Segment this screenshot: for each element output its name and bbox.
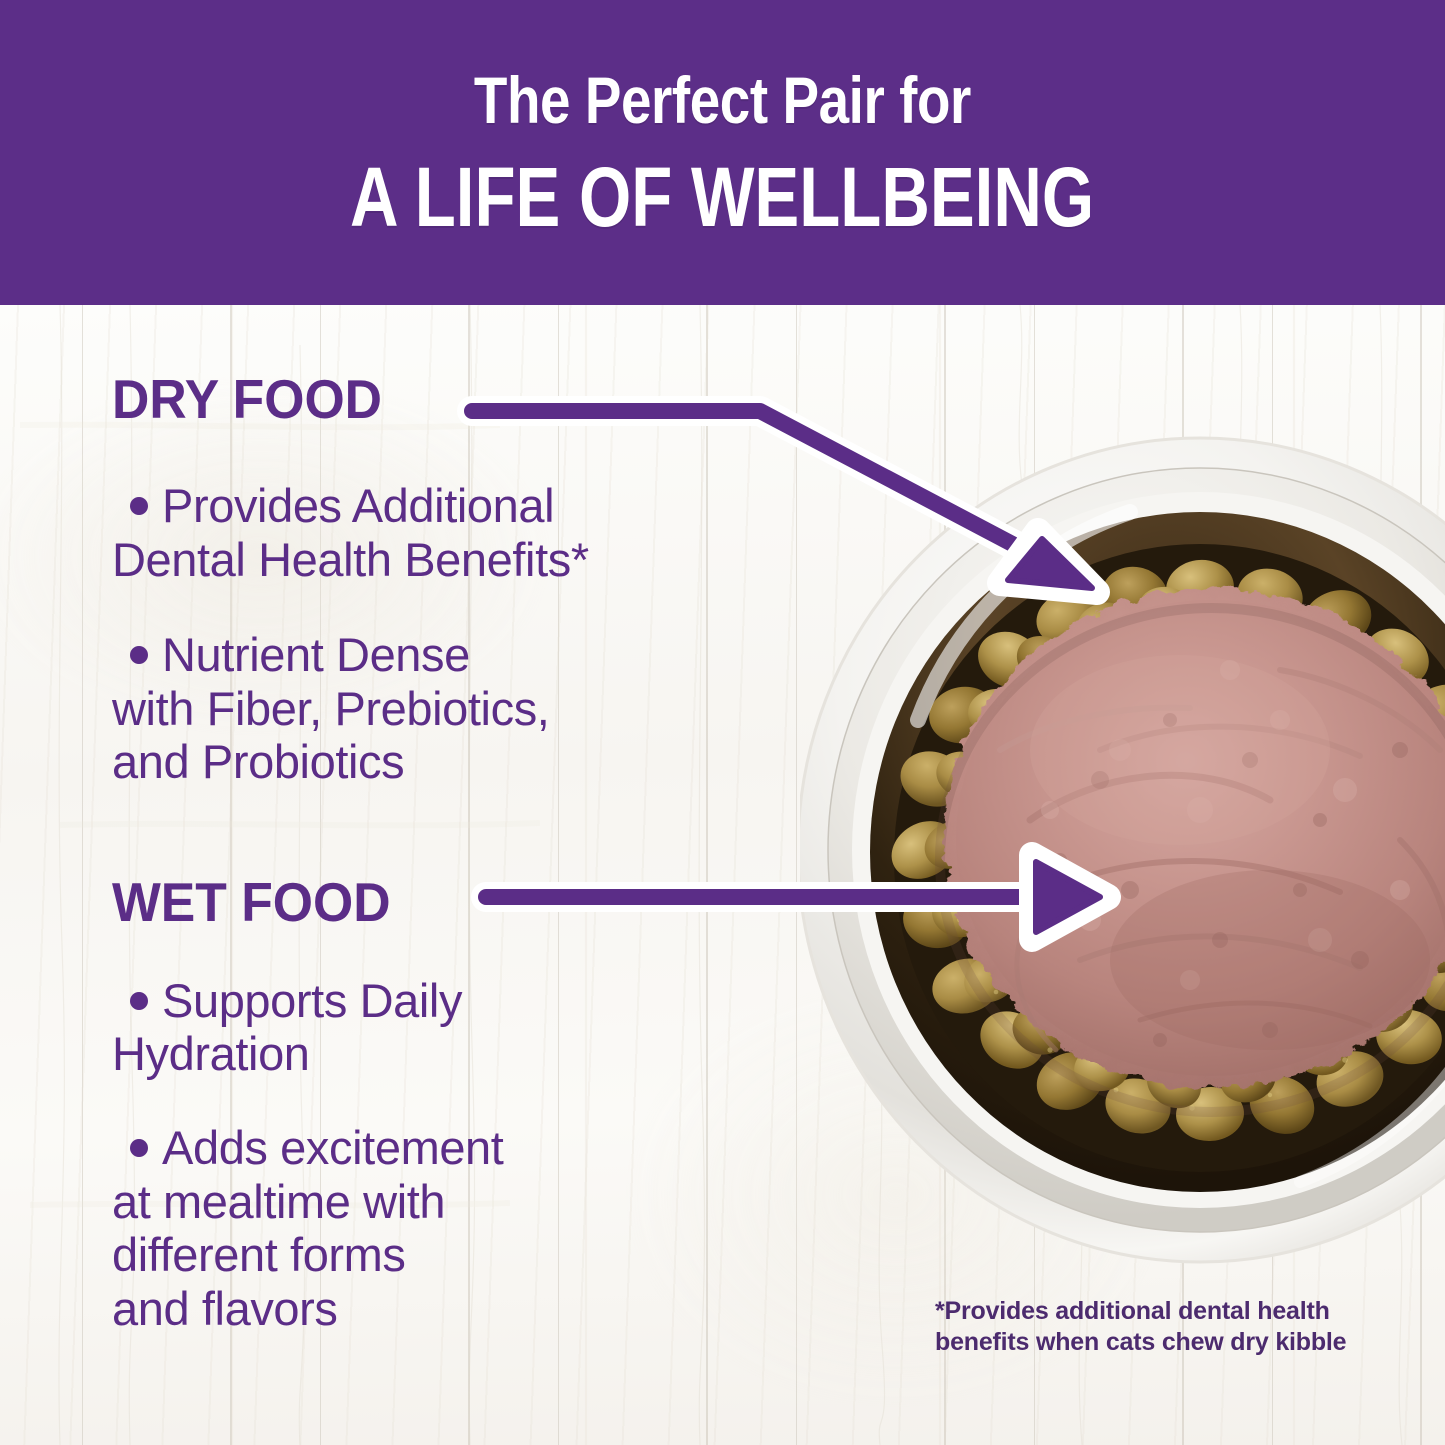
section-heading-wet-food: WET FOOD (112, 875, 770, 930)
bullet-dot-icon (130, 497, 148, 515)
bullet-wet-2: Adds excitement at mealtime with differe… (112, 1121, 812, 1335)
section-dry-food: DRY FOOD Provides Additional Dental Heal… (112, 372, 812, 789)
bullet-dry-1-line2: Dental Health Benefits* (112, 533, 589, 586)
bullet-wet-1-line1: Supports Daily (162, 974, 462, 1027)
bullet-dot-icon (130, 1139, 148, 1157)
footnote-line1: *Provides additional dental health (935, 1296, 1395, 1327)
header-title-line2: A LIFE OF WELLBEING (350, 155, 1094, 239)
bullet-dry-2-line3: and Probiotics (112, 735, 404, 788)
bullet-dry-2-line1: Nutrient Dense (162, 628, 470, 681)
section-heading-dry-food: DRY FOOD (112, 372, 770, 427)
section-wet-food: WET FOOD Supports Daily Hydration Adds e… (112, 875, 812, 1335)
bullet-wet-2-line1: Adds excitement (162, 1121, 503, 1174)
bullet-wet-2-line2: at mealtime with (112, 1175, 445, 1228)
header-banner: The Perfect Pair for A LIFE OF WELLBEING (0, 0, 1445, 305)
footnote: *Provides additional dental health benef… (935, 1296, 1395, 1357)
bullet-dry-2-line2: with Fiber, Prebiotics, (112, 682, 549, 735)
bullet-wet-2-line4: and flavors (112, 1282, 338, 1335)
bullet-dot-icon (130, 646, 148, 664)
bullet-wet-2-line3: different forms (112, 1228, 406, 1281)
header-title-line1: The Perfect Pair for (474, 67, 971, 133)
bullet-wet-1-line2: Hydration (112, 1027, 310, 1080)
benefits-copy-column: DRY FOOD Provides Additional Dental Heal… (112, 372, 812, 1335)
infographic-canvas: The Perfect Pair for A LIFE OF WELLBEING… (0, 0, 1445, 1445)
bullet-dry-1: Provides Additional Dental Health Benefi… (112, 479, 812, 586)
footnote-line2: benefits when cats chew dry kibble (935, 1327, 1395, 1358)
bullet-dot-icon (130, 992, 148, 1010)
bullet-dry-1-line1: Provides Additional (162, 479, 554, 532)
bullet-wet-1: Supports Daily Hydration (112, 974, 812, 1081)
bullet-dry-2: Nutrient Dense with Fiber, Prebiotics, a… (112, 628, 812, 789)
